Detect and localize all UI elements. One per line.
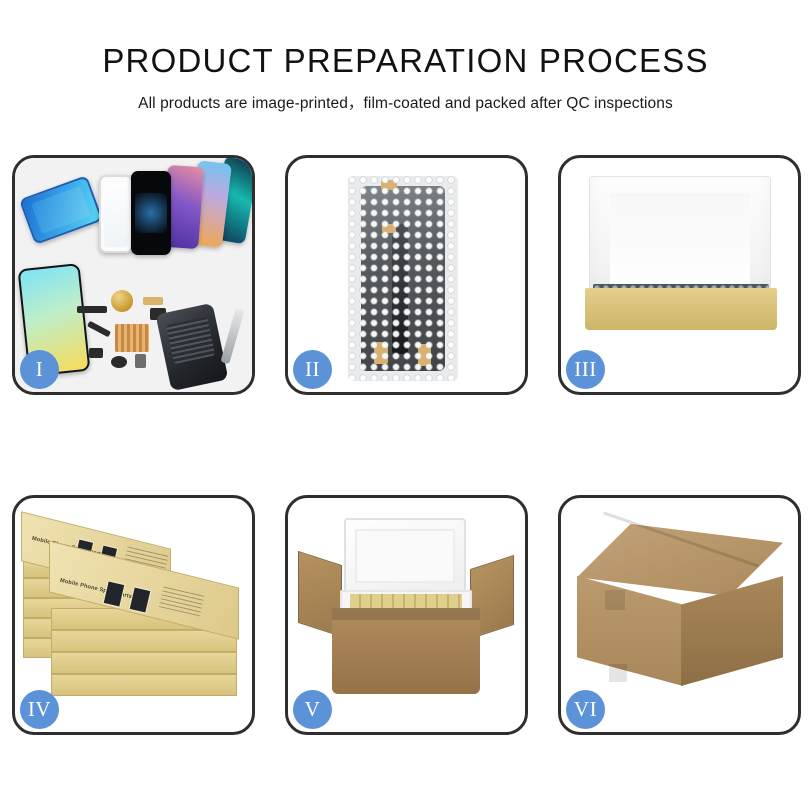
process-step-card-iii: III (558, 155, 801, 395)
cracked-black-screen-icon (131, 171, 171, 255)
gold-contact-icon (143, 297, 163, 305)
carton-tape-lower-icon (609, 664, 627, 682)
step-badge-ii: II (293, 350, 332, 389)
step-badge-vi: VI (566, 690, 605, 729)
small-part-icon-2 (111, 356, 127, 368)
step-badge-iv: IV (20, 690, 59, 729)
foam-lid-icon (344, 518, 466, 594)
stacked-box-front-4 (51, 630, 237, 652)
step-badge-iii: III (566, 350, 605, 389)
speaker-coil-icon (111, 290, 133, 312)
white-glass-panel-icon (99, 175, 133, 253)
tweezers-icon (220, 308, 244, 364)
phone-backplate-icon (156, 303, 229, 391)
small-part-icon-1 (89, 348, 103, 358)
process-step-card-i: I (12, 155, 255, 395)
process-step-card-iv: Mobile Phone Spare Parts Mobile Phone Sp… (12, 495, 255, 735)
bubble-texture-icon (348, 176, 458, 381)
blue-screen-part-icon (19, 175, 103, 245)
connector-chip-icon (77, 306, 107, 313)
kraft-box-tray-icon (585, 288, 777, 330)
box-stack: Mobile Phone Spare Parts Mobile Phone Sp… (21, 512, 246, 717)
bubble-wrap-bag-icon (348, 176, 458, 381)
flex-cable-icon (87, 321, 111, 338)
step-badge-v: V (293, 690, 332, 729)
carton-front-face-icon (577, 576, 683, 686)
stacked-box-front-2 (51, 674, 237, 696)
stacked-box-front-3 (51, 652, 237, 674)
infographic-page: PRODUCT PREPARATION PROCESS All products… (0, 0, 811, 811)
process-step-card-vi: VI (558, 495, 801, 735)
process-step-card-v: V (285, 495, 528, 735)
process-step-card-ii: II (285, 155, 528, 395)
carton-body-icon (332, 608, 480, 694)
header: PRODUCT PREPARATION PROCESS All products… (0, 0, 811, 113)
white-box-lid-icon (589, 176, 771, 296)
carton-side-face-icon (681, 576, 783, 686)
step-badge-i: I (20, 350, 59, 389)
carton-tape-upper-icon (605, 590, 625, 610)
small-part-icon-3 (135, 354, 146, 368)
page-title: PRODUCT PREPARATION PROCESS (0, 44, 811, 77)
contact-grid-icon (115, 324, 149, 352)
page-subtitle: All products are image-printed，film-coat… (0, 91, 811, 113)
process-steps-grid: I II (12, 155, 800, 775)
